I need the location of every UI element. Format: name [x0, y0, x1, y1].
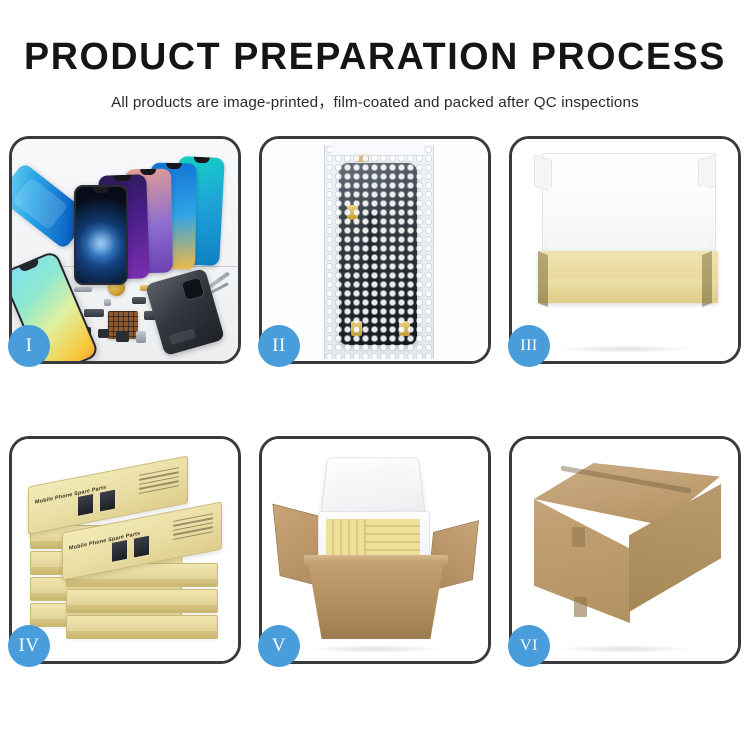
white-foam-liner	[548, 187, 708, 259]
box-spec-lines	[139, 467, 179, 499]
step-2-image	[262, 139, 488, 361]
step-5-image	[262, 439, 488, 661]
box-art-screen-right	[99, 488, 116, 512]
carton-tape-top	[572, 527, 585, 547]
small-part-screw	[104, 299, 111, 306]
drop-shadow	[557, 345, 693, 353]
process-step-card-6[interactable]: VI	[509, 436, 741, 664]
box-art-screen-left	[111, 539, 128, 563]
small-part-switch	[98, 329, 109, 338]
step-badge-3: III	[508, 325, 550, 367]
small-part-connector	[84, 309, 104, 317]
step-1-image	[12, 139, 238, 361]
step-3-image	[512, 139, 738, 361]
styrofoam-lid	[320, 457, 426, 517]
step-badge-6: VI	[508, 625, 550, 667]
carton-body	[308, 561, 444, 639]
carton-tape-bottom	[574, 597, 587, 617]
small-part-camera	[136, 331, 146, 343]
process-step-card-5[interactable]: V	[259, 436, 491, 664]
small-part-speaker	[116, 331, 129, 342]
box-label-text: Mobile Phone Spare Parts	[35, 485, 106, 506]
small-part-bracket	[74, 287, 92, 292]
box-corner-right	[702, 251, 712, 307]
step-badge-2: II	[258, 325, 300, 367]
process-step-card-3[interactable]: III	[509, 136, 741, 364]
drop-shadow	[307, 645, 443, 653]
bubble-texture	[325, 145, 433, 359]
process-step-card-1[interactable]: I	[9, 136, 241, 364]
step-badge-1: I	[8, 325, 50, 367]
bag-seal-top	[332, 139, 424, 156]
kraft-box-front-face	[538, 279, 718, 303]
drop-shadow	[557, 645, 693, 653]
box-label-text: Mobile Phone Spare Parts	[69, 531, 140, 552]
page-title: PRODUCT PREPARATION PROCESS	[4, 38, 747, 78]
box-stack: Mobile Phone Spare Parts Mobile Phone Sp…	[24, 455, 230, 653]
bubble-wrap-bag	[324, 145, 434, 359]
process-step-card-2[interactable]: II	[259, 136, 491, 364]
page-subtitle: All products are image-printed，film-coat…	[0, 90, 750, 112]
step-6-image	[512, 439, 738, 661]
process-step-card-4[interactable]: Mobile Phone Spare Parts Mobile Phone Sp…	[9, 436, 241, 664]
step-badge-5: V	[258, 625, 300, 667]
box-corner-left	[538, 251, 548, 307]
box-spec-lines	[173, 513, 213, 545]
small-part-flex	[132, 297, 146, 304]
stacked-box	[66, 615, 218, 639]
page-header: PRODUCT PREPARATION PROCESS All products…	[0, 0, 750, 112]
process-step-grid: I II	[0, 136, 750, 664]
box-art-screen-right	[133, 534, 150, 558]
box-art-screen-left	[77, 493, 94, 517]
stacked-box	[66, 589, 218, 613]
step-badge-4: IV	[8, 625, 50, 667]
step-4-image: Mobile Phone Spare Parts Mobile Phone Sp…	[12, 439, 238, 661]
front-glass-panel-icon	[74, 185, 128, 285]
